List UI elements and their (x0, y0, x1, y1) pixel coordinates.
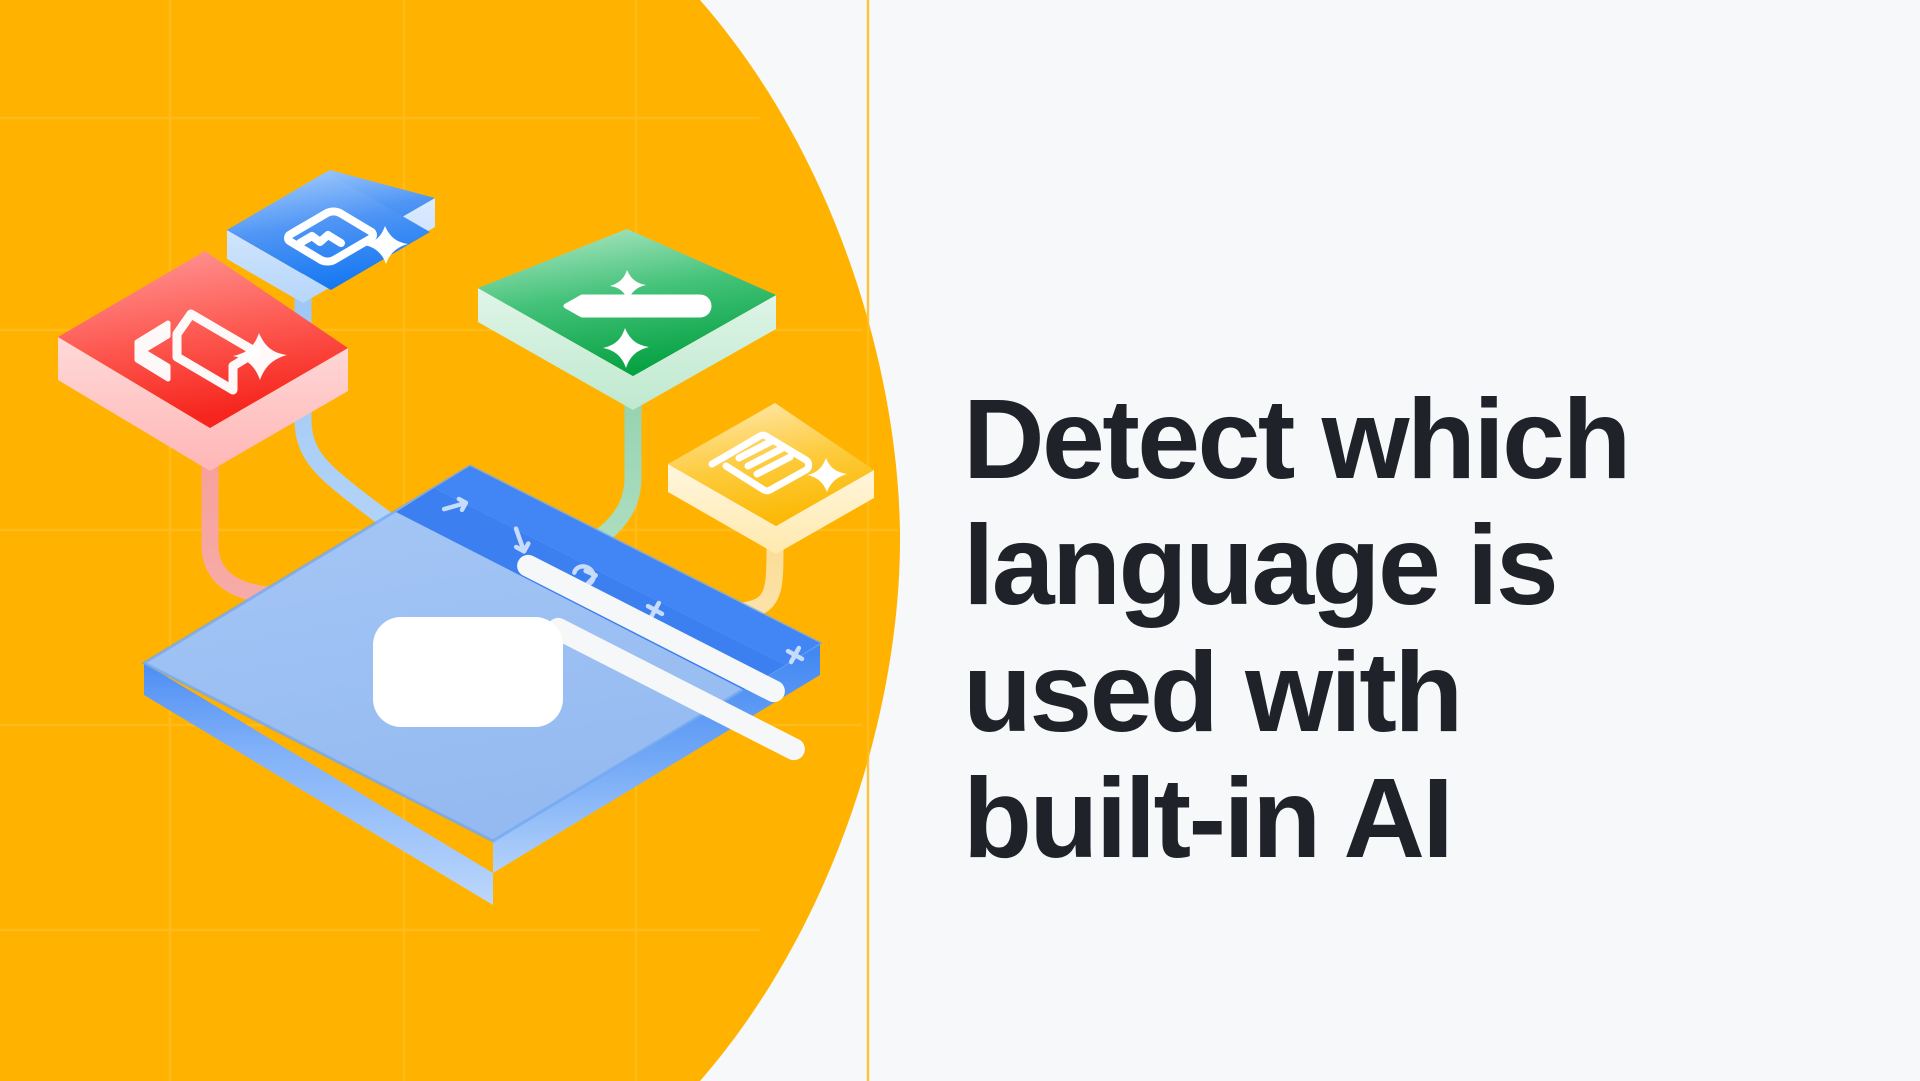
pencil-sparkle-icon (566, 297, 709, 315)
page-root: Detect which language is used with built… (0, 0, 1920, 1081)
page-title: Detect which language is used with built… (963, 376, 1783, 882)
connector-tails (452, 604, 462, 712)
